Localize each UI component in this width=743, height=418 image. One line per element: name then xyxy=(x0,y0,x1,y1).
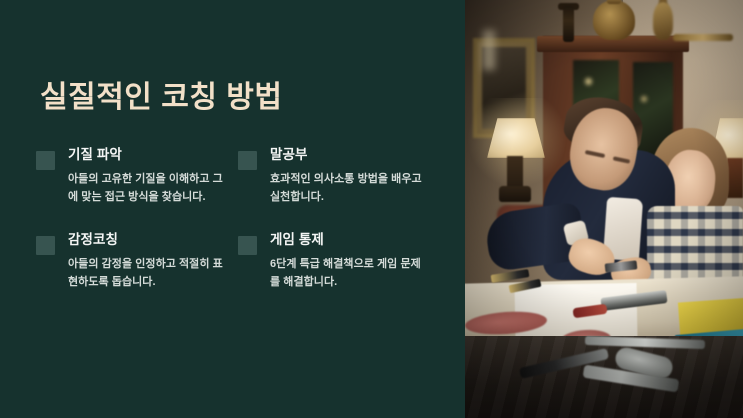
photo-left-lamp-stem xyxy=(507,156,523,190)
square-bullet-icon xyxy=(238,236,257,255)
feature-item-3-body: 아들의 감정을 인정하고 적절히 표현하도록 돕습니다. xyxy=(68,256,228,292)
feature-item-1: 기질 파악 아들의 고유한 기질을 이해하고 그에 맞는 접근 방식을 찾습니다… xyxy=(36,146,232,207)
slide-photo xyxy=(465,0,743,418)
presentation-slide: 실질적인 코칭 방법 기질 파악 아들의 고유한 기질을 이해하고 그에 맞는 … xyxy=(0,0,743,418)
feature-items-grid: 기질 파악 아들의 고유한 기질을 이해하고 그에 맞는 접근 방식을 찾습니다… xyxy=(36,146,436,292)
photo-candlestick xyxy=(563,6,574,42)
square-bullet-icon xyxy=(36,151,55,170)
photo-cabinet-glint xyxy=(585,78,592,85)
photo-brass-ewer xyxy=(653,2,673,40)
feature-item-4-heading: 게임 통제 xyxy=(270,231,434,249)
square-bullet-icon xyxy=(238,151,257,170)
feature-item-4-body: 6단계 특급 해결책으로 게임 문제를 해결합니다. xyxy=(270,256,430,292)
feature-item-3: 감정코칭 아들의 감정을 인정하고 적절히 표현하도록 돕습니다. xyxy=(36,231,232,292)
photo-brass-urn xyxy=(593,0,635,40)
feature-item-1-heading: 기질 파악 xyxy=(68,146,232,164)
feature-item-2-body: 효과적인 의사소통 방법을 배우고 실천합니다. xyxy=(270,171,430,207)
square-bullet-icon xyxy=(36,236,55,255)
photo-brass-rail xyxy=(673,34,733,41)
slide-content-panel: 실질적인 코칭 방법 기질 파악 아들의 고유한 기질을 이해하고 그에 맞는 … xyxy=(0,0,465,418)
feature-item-2: 말공부 효과적인 의사소통 방법을 배우고 실천합니다. xyxy=(238,146,434,207)
feature-item-4: 게임 통제 6단계 특급 해결책으로 게임 문제를 해결합니다. xyxy=(238,231,434,292)
photo-cabinet-glint-2 xyxy=(641,96,647,102)
photo-left-lamp-foot xyxy=(499,186,531,202)
feature-item-2-heading: 말공부 xyxy=(270,146,434,164)
feature-item-3-heading: 감정코칭 xyxy=(68,231,232,249)
photo-right-lamp-stem xyxy=(727,158,743,198)
photo-picture-highlight xyxy=(483,30,495,70)
photo-brass-urn-lid xyxy=(607,0,621,4)
feature-item-1-body: 아들의 고유한 기질을 이해하고 그에 맞는 접근 방식을 찾습니다. xyxy=(68,171,228,207)
slide-title: 실질적인 코칭 방법 xyxy=(40,80,282,116)
